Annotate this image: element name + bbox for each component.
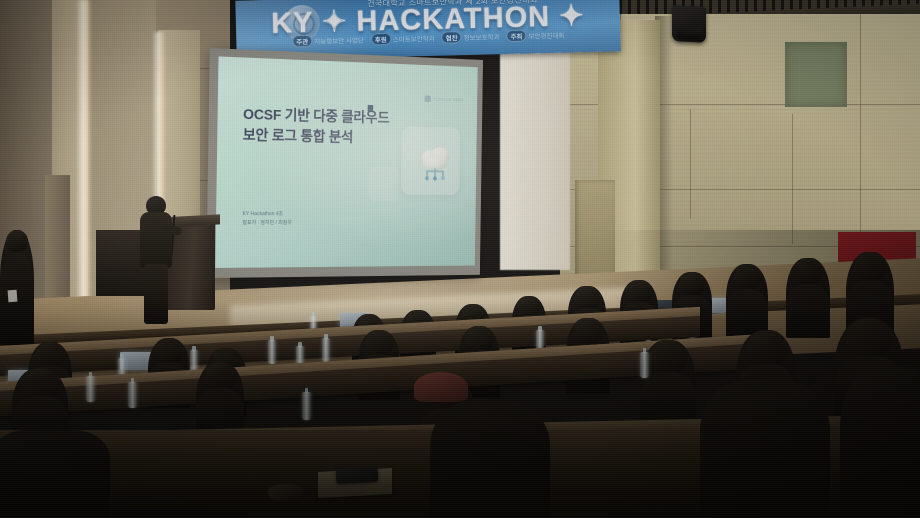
- sponsor-badge: 주최 보안경진대회: [506, 29, 564, 42]
- banner-subtitle-line: 건국대학교 스마트보안학과 제 2회 보안경진대회: [327, 0, 577, 10]
- slide-decor-card-small: [368, 167, 399, 202]
- sponsor-badge: 후원 스마트보안학과: [371, 32, 435, 46]
- water-bottle: [640, 352, 649, 378]
- standing-attendee: [0, 230, 34, 345]
- banner-sponsor-badges: 주관 지능형보안 사업단 후원 스마트보안학과 협찬 정보보호학과 주최 보안경…: [236, 27, 620, 48]
- foreground-attendee: [700, 380, 830, 518]
- projection-screen: KONKUK UNIV: [215, 56, 477, 268]
- water-bottle: [128, 382, 137, 408]
- logo-mark-icon: [424, 95, 430, 102]
- sponsor-badge: 협찬 정보보호학과: [442, 30, 500, 43]
- foreground-attendee: [0, 430, 110, 518]
- water-bottle: [302, 392, 311, 420]
- attendee: [726, 264, 768, 338]
- presenter-body: [140, 212, 172, 268]
- water-bottle: [322, 338, 330, 362]
- acoustic-panel-green: [785, 42, 847, 107]
- water-bottle: [86, 376, 95, 402]
- slide-corner-logo: KONKUK UNIV: [424, 95, 463, 103]
- lanyard-badge: [8, 290, 18, 303]
- attendee-with-cap: [414, 372, 468, 402]
- slide-footer-credits: KY Hackathon 4조 발표자 : 정지민 / 최창우: [242, 210, 292, 228]
- projection-screen-frame: KONKUK UNIV: [206, 48, 483, 278]
- smartphone: [336, 467, 379, 484]
- presenter-legs: [144, 264, 168, 324]
- university-emblem-icon: [283, 5, 320, 42]
- bright-wall-slab: [500, 20, 570, 270]
- sponsor-badge: 주관 지능형보안 사업단: [292, 34, 364, 48]
- slide-title: OCSF 기반 다중 클라우드 보안 로그 통합 분석: [243, 105, 390, 150]
- attendee-head: [6, 230, 28, 252]
- cloud-3d-illustration-icon: [414, 139, 459, 187]
- water-bottle: [268, 340, 276, 364]
- foreground-attendee: [430, 400, 550, 518]
- led-light-strip: [76, 0, 92, 330]
- presenter: [138, 196, 174, 324]
- foreground-attendee: [840, 366, 920, 518]
- attendee: [786, 258, 830, 338]
- photograph: 건국대학교 스마트보안학과 제 2회 보안경진대회 KY ✦ HACKATHON…: [0, 0, 920, 518]
- banner-title: KY ✦ HACKATHON ✦: [235, 0, 620, 42]
- ceiling-speaker-icon: [672, 5, 706, 43]
